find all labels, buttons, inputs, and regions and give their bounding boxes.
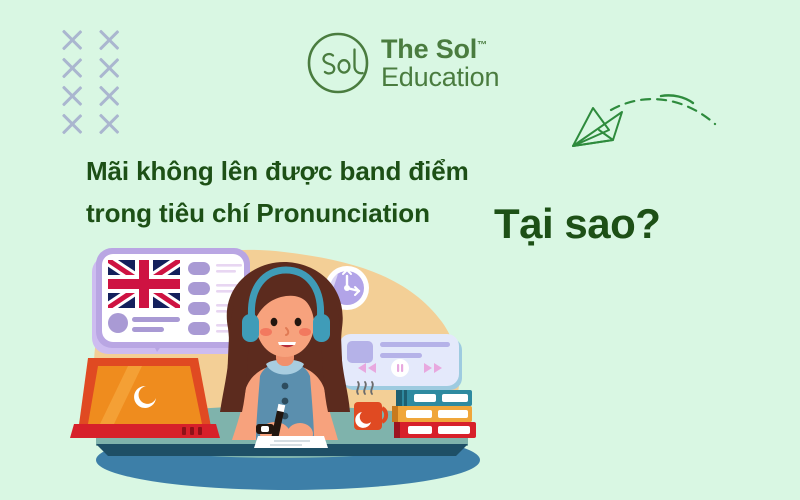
headline-line-2: trong tiêu chí Pronunciation <box>86 192 506 234</box>
brand-logo: The Sol™ Education <box>305 30 499 96</box>
player-subtitle-bar <box>380 353 422 358</box>
poster-canvas: The Sol™ Education Mãi không lên được ba… <box>0 0 800 500</box>
book-item <box>394 422 476 438</box>
x-cross-icon <box>93 112 124 136</box>
book-stack-icon <box>392 390 476 438</box>
uk-flag-icon <box>108 260 180 308</box>
x-cross-icon <box>93 56 124 80</box>
pause-icon-bar <box>397 364 399 372</box>
card-text-line <box>132 317 180 322</box>
x-cross-icon <box>93 84 124 108</box>
pause-icon-bar <box>401 364 403 372</box>
list-item-pill <box>188 282 210 295</box>
list-item-line <box>216 264 242 267</box>
list-item-pill <box>188 262 210 275</box>
page-title: Mãi không lên được band điểm trong tiêu … <box>86 150 506 234</box>
book-item <box>392 406 472 422</box>
blush-right <box>299 328 311 336</box>
sol-circle-monogram-icon <box>305 30 371 96</box>
list-item-pill <box>188 302 210 315</box>
x-cross-icon <box>56 28 87 52</box>
eye-right <box>295 318 302 326</box>
trademark-symbol: ™ <box>477 40 487 51</box>
headphone-ear-left <box>242 314 259 342</box>
brand-wordmark: The Sol™ Education <box>381 36 499 91</box>
x-cross-pattern <box>56 28 124 136</box>
laptop-vents <box>182 427 202 435</box>
headline-line-1: Mãi không lên được band điểm <box>86 150 506 192</box>
x-cross-icon <box>56 84 87 108</box>
paper-plane-icon <box>565 78 740 163</box>
uk-flag-lesson-card[interactable] <box>92 248 250 354</box>
blush-left <box>260 328 272 336</box>
book-item <box>396 390 472 406</box>
x-cross-icon <box>56 112 87 136</box>
player-thumbnail <box>347 341 373 363</box>
pen-tip <box>277 404 285 412</box>
tagline: Tại sao? <box>494 200 660 248</box>
x-cross-icon <box>93 28 124 52</box>
headphone-ear-right <box>313 314 330 342</box>
brand-line1: The Sol <box>381 34 477 64</box>
student-listening-illustration <box>70 236 490 500</box>
x-cross-icon <box>56 56 87 80</box>
teeth <box>278 342 296 345</box>
student-character <box>220 262 350 448</box>
card-text-line <box>132 327 164 332</box>
pause-button[interactable] <box>391 359 409 377</box>
watch-face <box>261 426 269 432</box>
player-title-bar <box>380 342 450 347</box>
laptop-icon <box>70 358 220 438</box>
avatar <box>108 313 128 333</box>
notebook-paper <box>254 436 328 448</box>
eye-left <box>271 318 278 326</box>
brand-line2: Education <box>381 64 499 91</box>
list-item-line <box>216 270 236 273</box>
list-item-pill <box>188 322 210 335</box>
